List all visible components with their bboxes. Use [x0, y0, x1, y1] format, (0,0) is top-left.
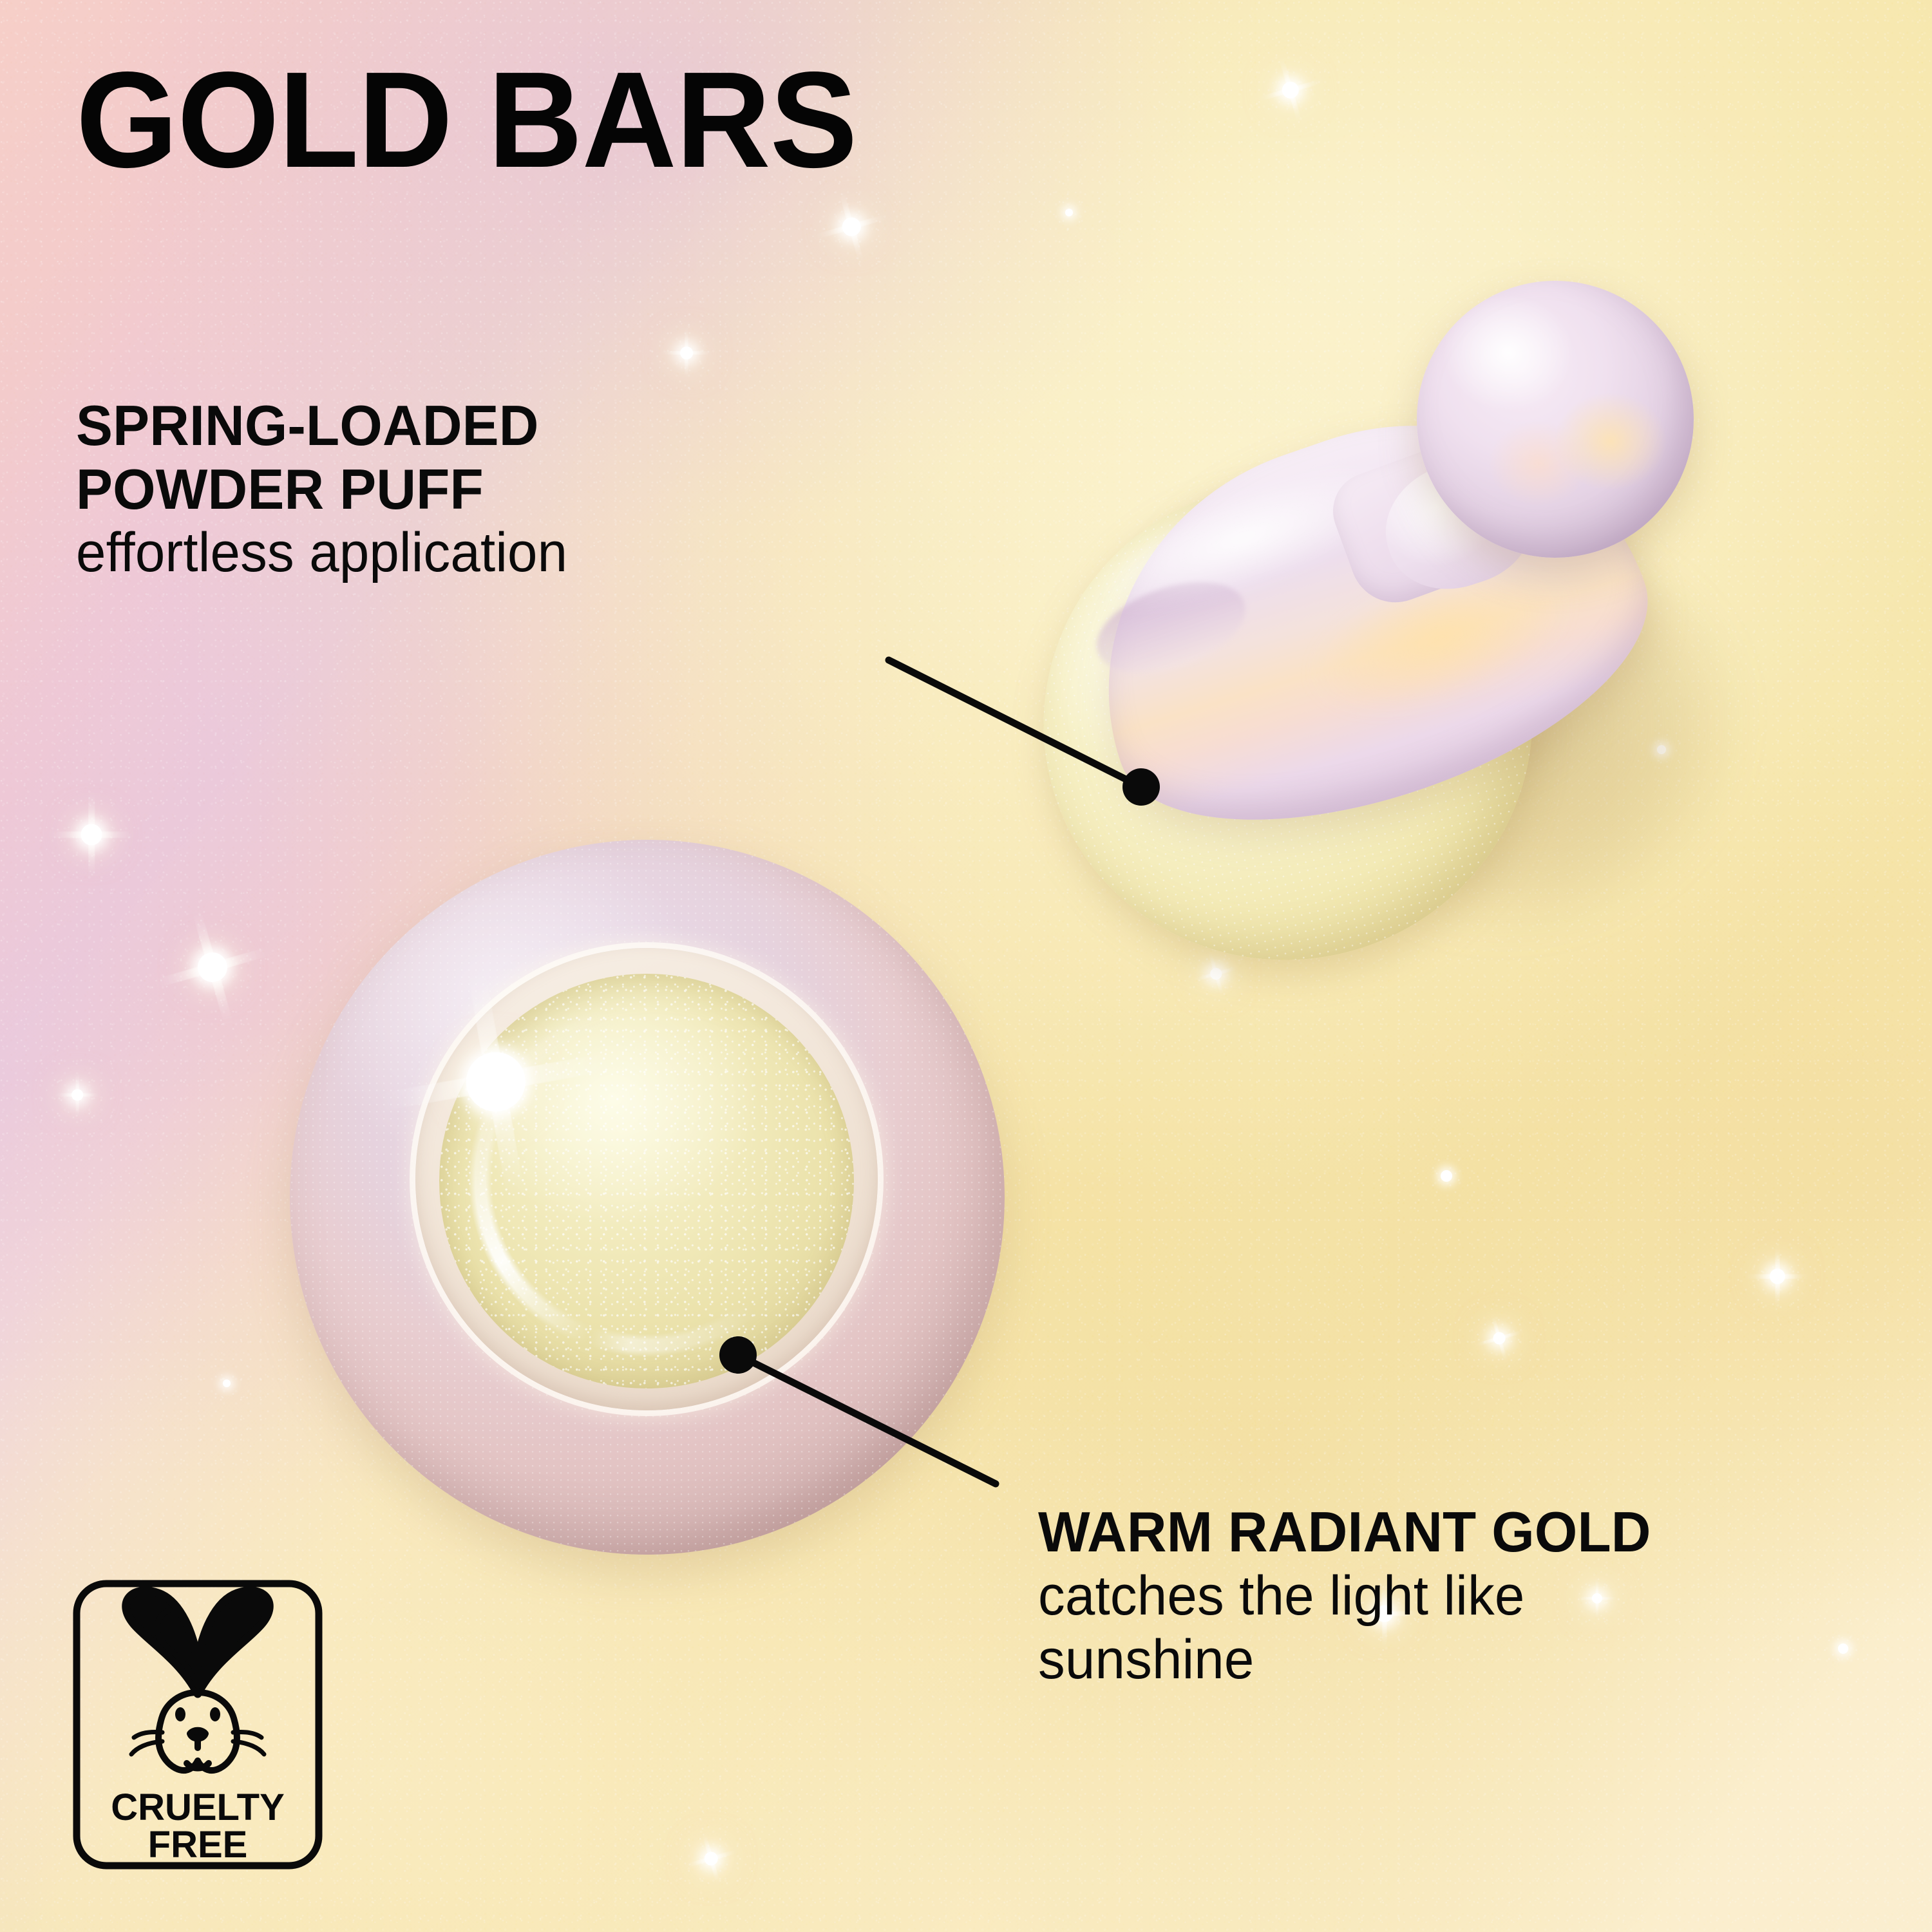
applicator-sphere-knob: [1417, 281, 1694, 558]
callout-puff-heading-line2: POWDER PUFF: [76, 458, 567, 522]
bunny-eyes-icon: [175, 1707, 220, 1721]
cruelty-free-badge: CRUELTY FREE: [72, 1579, 323, 1870]
callout-powder-puff: SPRING-LOADED POWDER PUFF effortless app…: [76, 394, 583, 585]
callout-gold-subtext-line1: catches the light like: [1038, 1564, 1651, 1629]
callout-warm-radiant-gold: WARM RADIANT GOLD catches the light like…: [1038, 1501, 1670, 1692]
callout-gold-subtext-line2: sunshine: [1038, 1628, 1651, 1692]
bunny-heart-ears-icon: [126, 1591, 269, 1694]
bunny-face-icon: [158, 1692, 237, 1770]
badge-label-line2: FREE: [148, 1824, 248, 1866]
callout-gold-heading: WARM RADIANT GOLD: [1038, 1501, 1651, 1564]
badge-label-line1: CRUELTY: [111, 1786, 285, 1828]
marketing-image-canvas: GOLD BARS SPRING-LOADED POWDER PUFF effo…: [0, 0, 1932, 1932]
powder-compact: [277, 831, 1037, 1591]
page-title: GOLD BARS: [76, 57, 857, 182]
compact-rim-highlight: [409, 942, 884, 1417]
callout-puff-heading-line1: SPRING-LOADED: [76, 394, 567, 458]
callout-puff-subtext: effortless application: [76, 521, 567, 585]
powder-puff-applicator: [1005, 290, 1803, 1127]
